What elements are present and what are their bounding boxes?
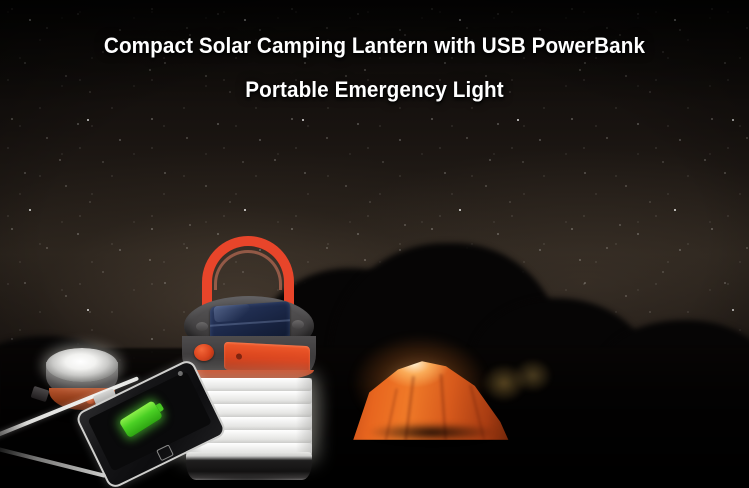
body-side-shade — [296, 378, 312, 456]
cap-nub — [196, 322, 208, 331]
product-banner: Compact Solar Camping Lantern with USB P… — [0, 0, 749, 488]
tent-shadow — [346, 422, 518, 448]
solar-lantern-product — [178, 236, 323, 486]
lantern-ground-shadow — [172, 474, 322, 488]
headline-line-1: Compact Solar Camping Lantern with USB P… — [22, 24, 726, 68]
solar-panel-sheen — [213, 304, 250, 322]
cap-nub — [292, 320, 304, 329]
battery-charging-icon — [118, 397, 168, 438]
headline: Compact Solar Camping Lantern with USB P… — [0, 24, 749, 112]
power-bank-led-top — [46, 348, 118, 382]
power-button — [194, 344, 214, 361]
brush-vegetation — [480, 352, 560, 414]
headline-line-2: Portable Emergency Light — [22, 68, 726, 112]
